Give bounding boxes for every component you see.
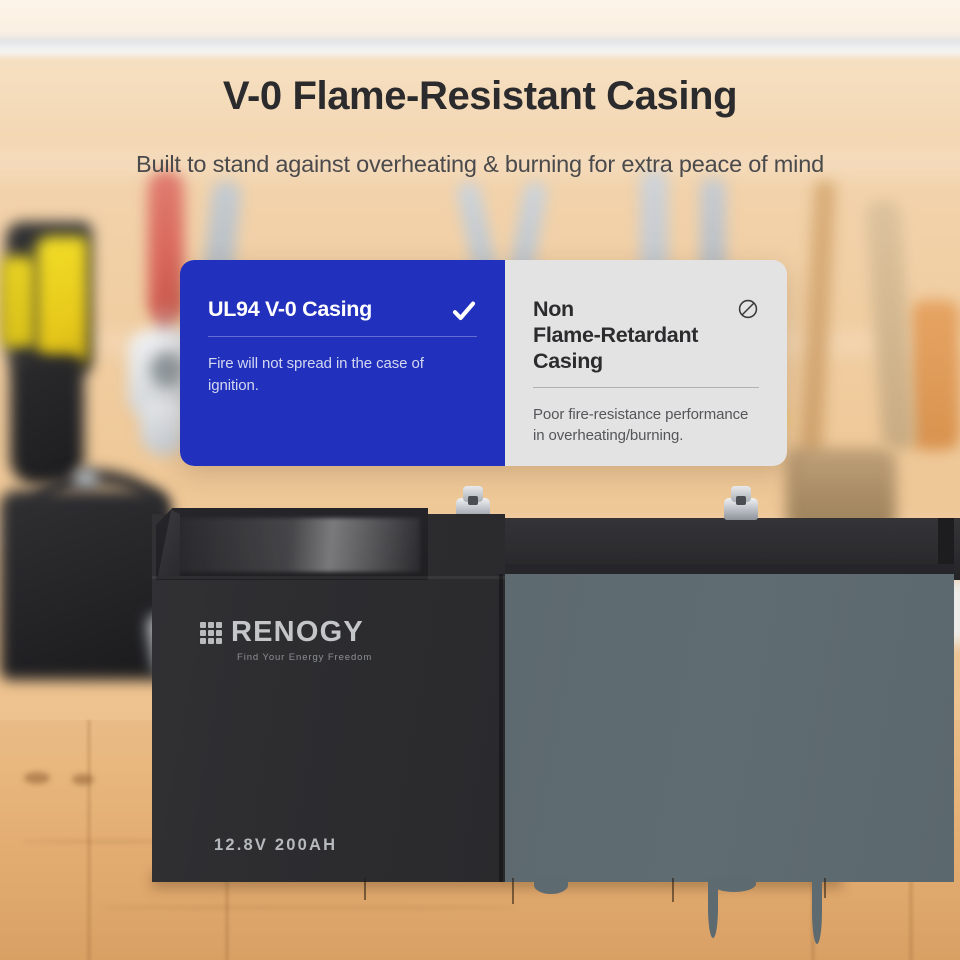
brand-name: RENOGY: [231, 618, 364, 647]
panel-bad-title-line2: Flame-Retardant Casing: [533, 322, 727, 374]
drip-mark: [534, 876, 568, 894]
product-feature-image: V-0 Flame-Resistant Casing Built to stan…: [0, 0, 960, 960]
power-drill-icon: [10, 355, 84, 485]
battery-side-panel: [502, 574, 954, 882]
drip-mark: [712, 876, 756, 892]
panel-bad-description: Poor fire-resistance performance in over…: [533, 404, 759, 448]
check-icon: [451, 298, 477, 324]
panel-good-description: Fire will not spread in the case of igni…: [208, 353, 477, 397]
page-subtitle: Built to stand against overheating & bur…: [0, 150, 960, 179]
page-title: V-0 Flame-Resistant Casing: [0, 74, 960, 118]
drip-mark: [364, 878, 366, 900]
drip-mark: [812, 878, 822, 944]
tool-bag-icon: [74, 468, 98, 492]
panel-bad-title: Non Flame-Retardant Casing: [533, 296, 727, 375]
panel-bad-title-line1: Non: [533, 296, 727, 322]
battery-seam: [152, 576, 505, 579]
drip-mark: [672, 878, 674, 902]
battery-terminal-positive: [724, 486, 758, 520]
comparison-panel-bad: Non Flame-Retardant Casing Poor fire-res…: [505, 260, 787, 466]
drip-mark: [512, 878, 514, 904]
panel-divider: [208, 336, 477, 337]
shelf-edge-line: [0, 38, 960, 56]
drip-mark: [824, 878, 826, 898]
solar-panel-grid-icon: [200, 622, 222, 644]
panel-good-title: UL94 V-0 Casing: [208, 296, 372, 322]
brand-tagline: Find Your Energy Freedom: [237, 652, 372, 663]
product-spec-label: 12.8V 200AH: [214, 836, 337, 855]
battery-corner-seam: [499, 574, 503, 882]
brand-logo: RENOGY: [200, 618, 364, 647]
drip-mark: [708, 878, 718, 938]
blurred-tool: [910, 300, 960, 450]
power-drill-icon: [0, 256, 36, 348]
tool-bag-icon: [0, 490, 170, 680]
comparison-panel-good: UL94 V-0 Casing Fire will not spread in …: [180, 260, 505, 466]
comparison-card: UL94 V-0 Casing Fire will not spread in …: [180, 260, 787, 466]
panel-divider: [533, 387, 759, 388]
battery-gloss-highlight: [170, 518, 420, 572]
prohibition-icon: [737, 298, 759, 320]
clamp-icon: [150, 352, 184, 388]
battery-product: RENOGY Find Your Energy Freedom 12.8V 20…: [152, 500, 830, 882]
blurred-tool: [148, 170, 184, 320]
power-drill-icon: [36, 236, 88, 364]
